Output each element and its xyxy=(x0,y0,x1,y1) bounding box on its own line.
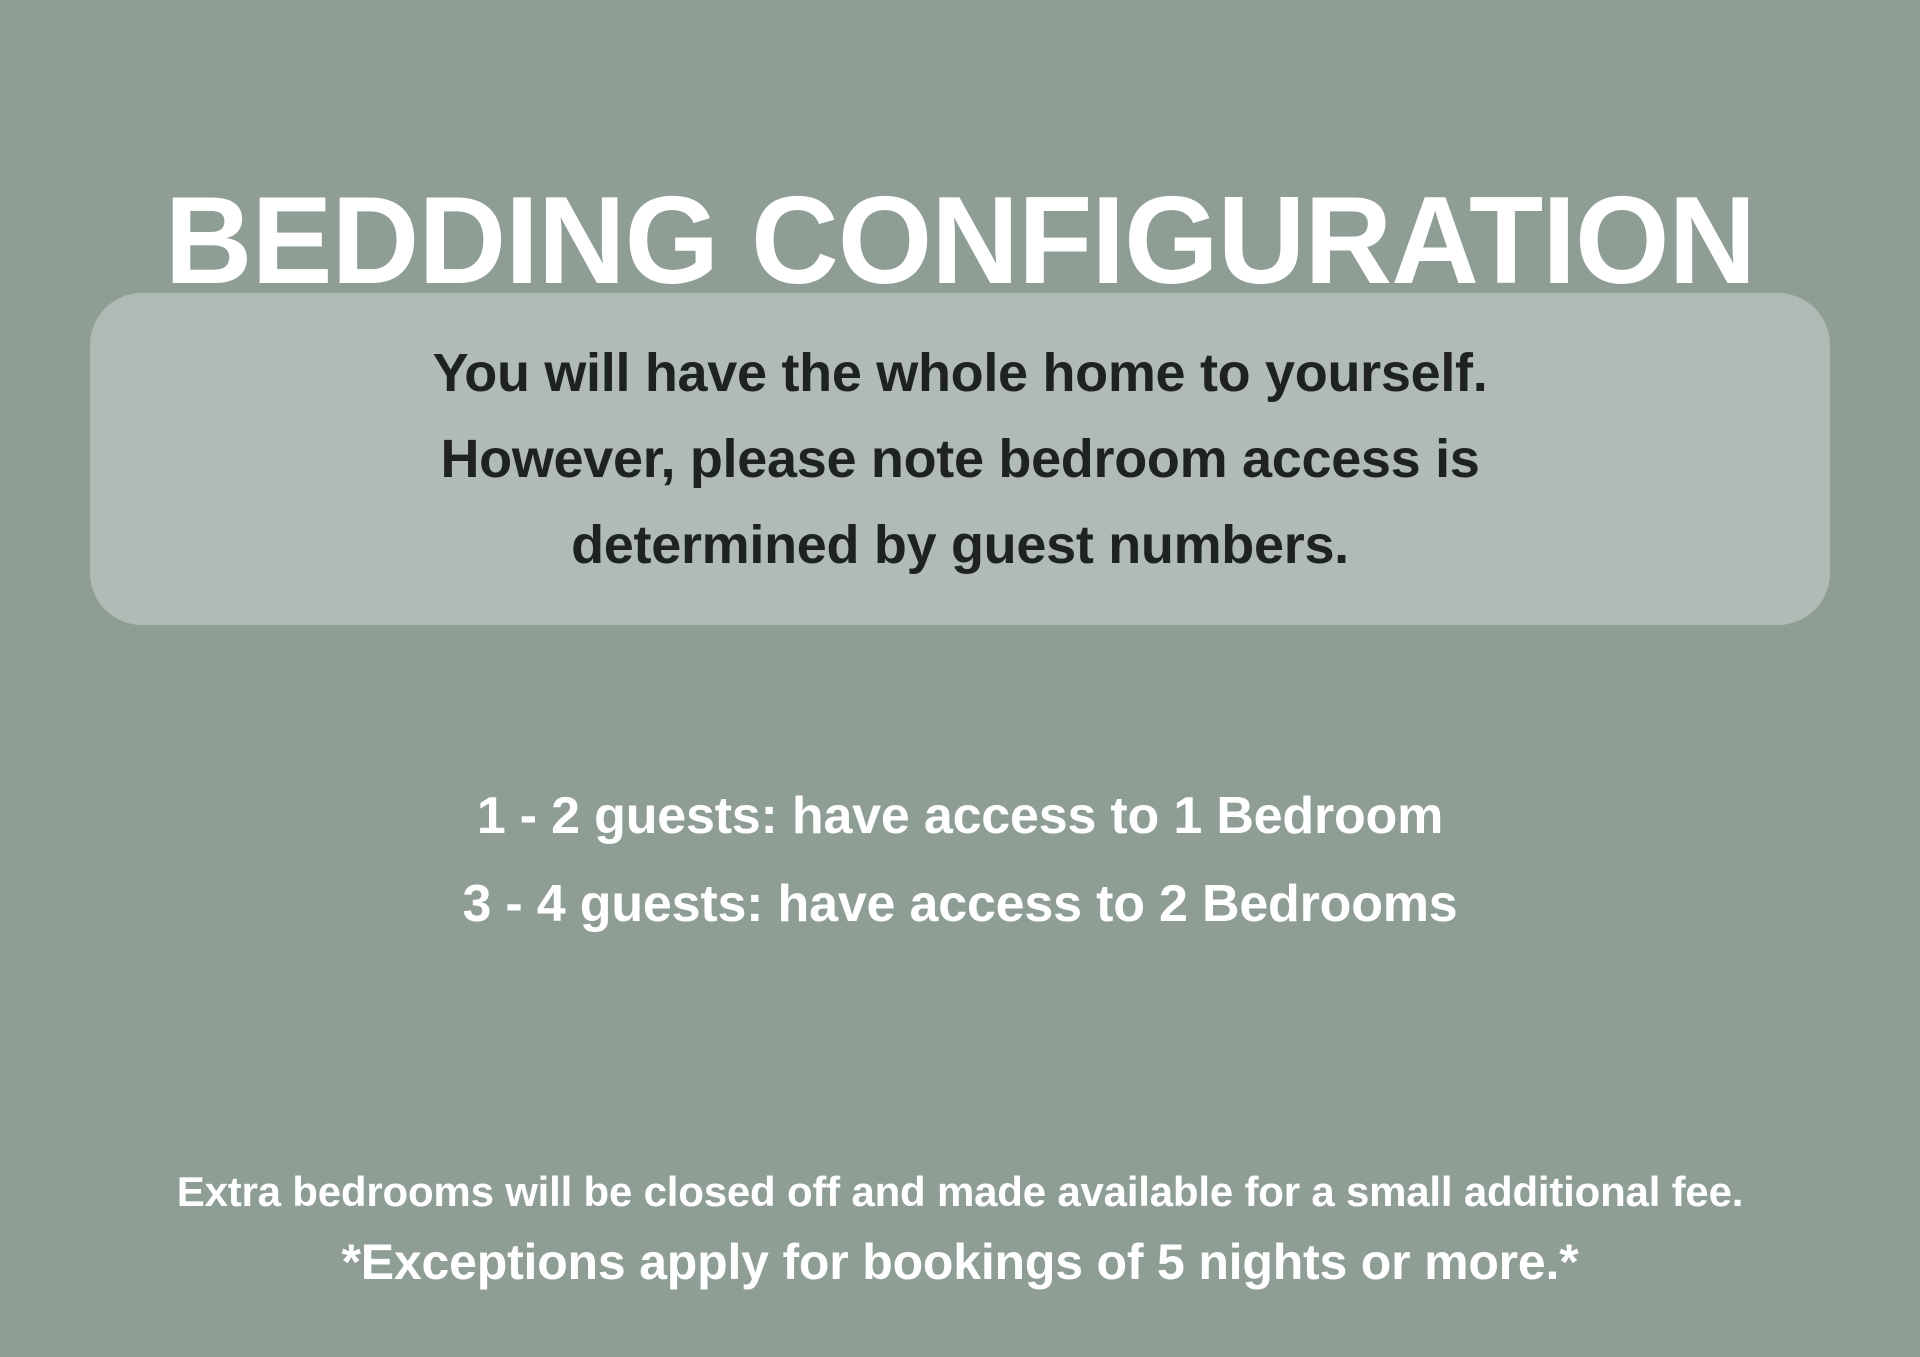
notice-line-1: You will have the whole home to yourself… xyxy=(433,330,1488,416)
footnotes: Extra bedrooms will be closed off and ma… xyxy=(0,1159,1920,1299)
notice-line-2: However, please note bedroom access is xyxy=(440,416,1479,502)
guest-access-rules: 1 - 2 guests: have access to 1 Bedroom 3… xyxy=(0,772,1920,948)
footnote-extra-bedrooms-fee: Extra bedrooms will be closed off and ma… xyxy=(0,1159,1920,1225)
bedding-configuration-poster: BEDDING CONFIGURATION You will have the … xyxy=(0,0,1920,1357)
notice-card: You will have the whole home to yourself… xyxy=(90,293,1830,625)
notice-line-3: determined by guest numbers. xyxy=(571,502,1349,588)
footnote-exceptions: *Exceptions apply for bookings of 5 nigh… xyxy=(0,1225,1920,1299)
rule-item-3-4-guests: 3 - 4 guests: have access to 2 Bedrooms xyxy=(0,860,1920,948)
rule-item-1-2-guests: 1 - 2 guests: have access to 1 Bedroom xyxy=(0,772,1920,860)
page-title: BEDDING CONFIGURATION xyxy=(19,179,1901,303)
